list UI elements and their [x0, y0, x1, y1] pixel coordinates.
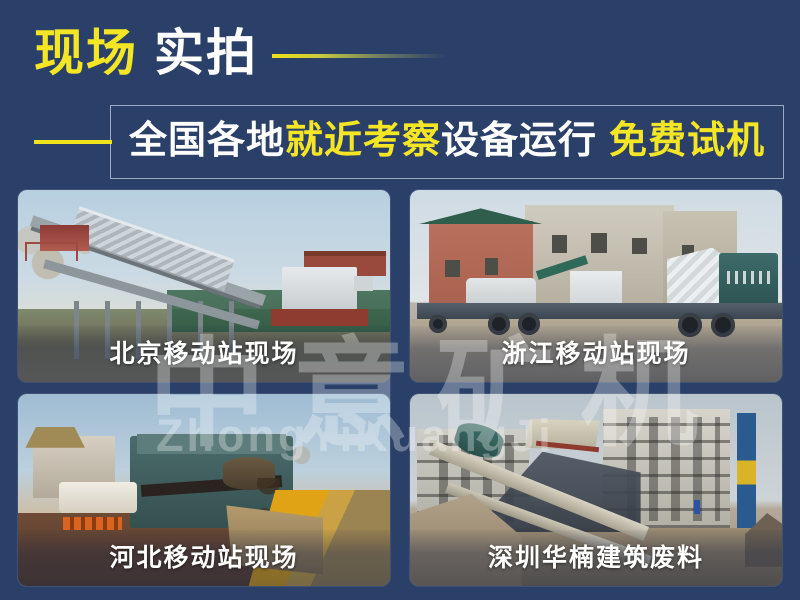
subtitle-seg2: 就近考察	[285, 120, 441, 162]
title-rule-icon	[272, 54, 447, 58]
photo-caption-text: 浙江移动站现场	[501, 334, 690, 370]
photo-gallery-grid: 北京移动站现场	[18, 190, 782, 586]
title-part1: 现场	[34, 25, 138, 81]
subtitle-box: 全国各地就近考察设备运行免费试机	[110, 105, 784, 179]
gallery-card-beijing[interactable]: 北京移动站现场	[18, 190, 390, 382]
title-part2: 实拍	[154, 25, 258, 81]
gallery-card-shenzhen[interactable]: 深圳华楠建筑废料	[410, 394, 782, 586]
subtitle-seg4: 免费试机	[609, 120, 765, 162]
photo-caption-bar: 河北移动站现场	[18, 530, 390, 586]
photo-caption-text: 深圳华楠建筑废料	[488, 538, 704, 574]
subtitle-seg1: 全国各地	[129, 120, 285, 162]
page-title: 现场实拍	[34, 24, 447, 82]
banner-header: 现场实拍 全国各地就近考察设备运行免费试机	[0, 0, 800, 190]
subtitle-text: 全国各地就近考察设备运行免费试机	[129, 119, 765, 163]
gallery-card-hebei[interactable]: 河北移动站现场	[18, 394, 390, 586]
promo-banner: 现场实拍 全国各地就近考察设备运行免费试机	[0, 0, 800, 600]
photo-caption-bar: 北京移动站现场	[18, 326, 390, 382]
gallery-card-zhejiang[interactable]: 浙江移动站现场	[410, 190, 782, 382]
subtitle-seg3: 设备运行	[441, 120, 597, 162]
photo-caption-text: 北京移动站现场	[109, 334, 298, 370]
photo-caption-bar: 深圳华楠建筑废料	[410, 530, 782, 586]
yellow-rule-icon	[34, 140, 112, 144]
subtitle-row: 全国各地就近考察设备运行免费试机	[34, 105, 784, 179]
title-text: 现场实拍	[34, 24, 258, 82]
photo-caption-bar: 浙江移动站现场	[410, 326, 782, 382]
photo-caption-text: 河北移动站现场	[109, 538, 298, 574]
